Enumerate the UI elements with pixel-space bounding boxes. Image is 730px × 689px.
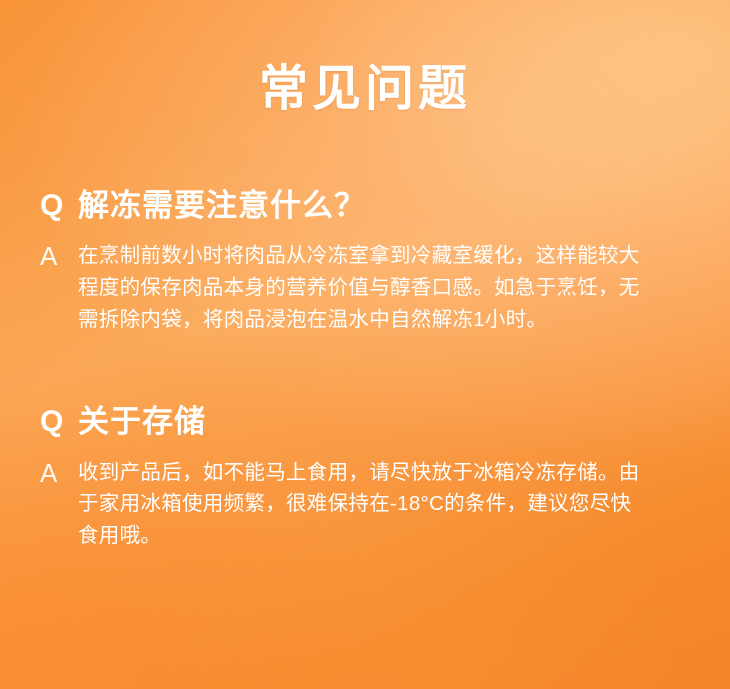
question-marker-icon: Q bbox=[40, 403, 78, 437]
answer-marker-icon: A bbox=[40, 240, 78, 269]
faq-question-row: Q 解冻需要注意什么？ bbox=[40, 187, 690, 224]
faq-content: 常见问题 Q 解冻需要注意什么？ A 在烹制前数小时将肉品从冷冻室拿到冷藏室缓化… bbox=[0, 0, 730, 552]
faq-answer-row: A 在烹制前数小时将肉品从冷冻室拿到冷藏室缓化，这样能较大程度的保存肉品本身的营… bbox=[40, 240, 690, 335]
faq-item-2: Q 关于存储 A 收到产品后，如不能马上食用，请尽快放于冰箱冷冻存储。由于家用冰… bbox=[0, 403, 730, 551]
faq-item-1: Q 解冻需要注意什么？ A 在烹制前数小时将肉品从冷冻室拿到冷藏室缓化，这样能较… bbox=[0, 187, 730, 335]
faq-answer-text: 在烹制前数小时将肉品从冷冻室拿到冷藏室缓化，这样能较大程度的保存肉品本身的营养价… bbox=[78, 240, 643, 335]
faq-page: 常见问题 Q 解冻需要注意什么？ A 在烹制前数小时将肉品从冷冻室拿到冷藏室缓化… bbox=[0, 0, 730, 689]
answer-marker-icon: A bbox=[40, 457, 78, 486]
faq-answer-text: 收到产品后，如不能马上食用，请尽快放于冰箱冷冻存储。由于家用冰箱使用频繁，很难保… bbox=[78, 457, 643, 552]
faq-question-text: 关于存储 bbox=[78, 403, 206, 440]
page-title: 常见问题 bbox=[0, 0, 730, 117]
faq-question-text: 解冻需要注意什么？ bbox=[78, 187, 366, 224]
faq-answer-row: A 收到产品后，如不能马上食用，请尽快放于冰箱冷冻存储。由于家用冰箱使用频繁，很… bbox=[40, 457, 690, 552]
faq-question-row: Q 关于存储 bbox=[40, 403, 690, 440]
question-marker-icon: Q bbox=[40, 187, 78, 221]
